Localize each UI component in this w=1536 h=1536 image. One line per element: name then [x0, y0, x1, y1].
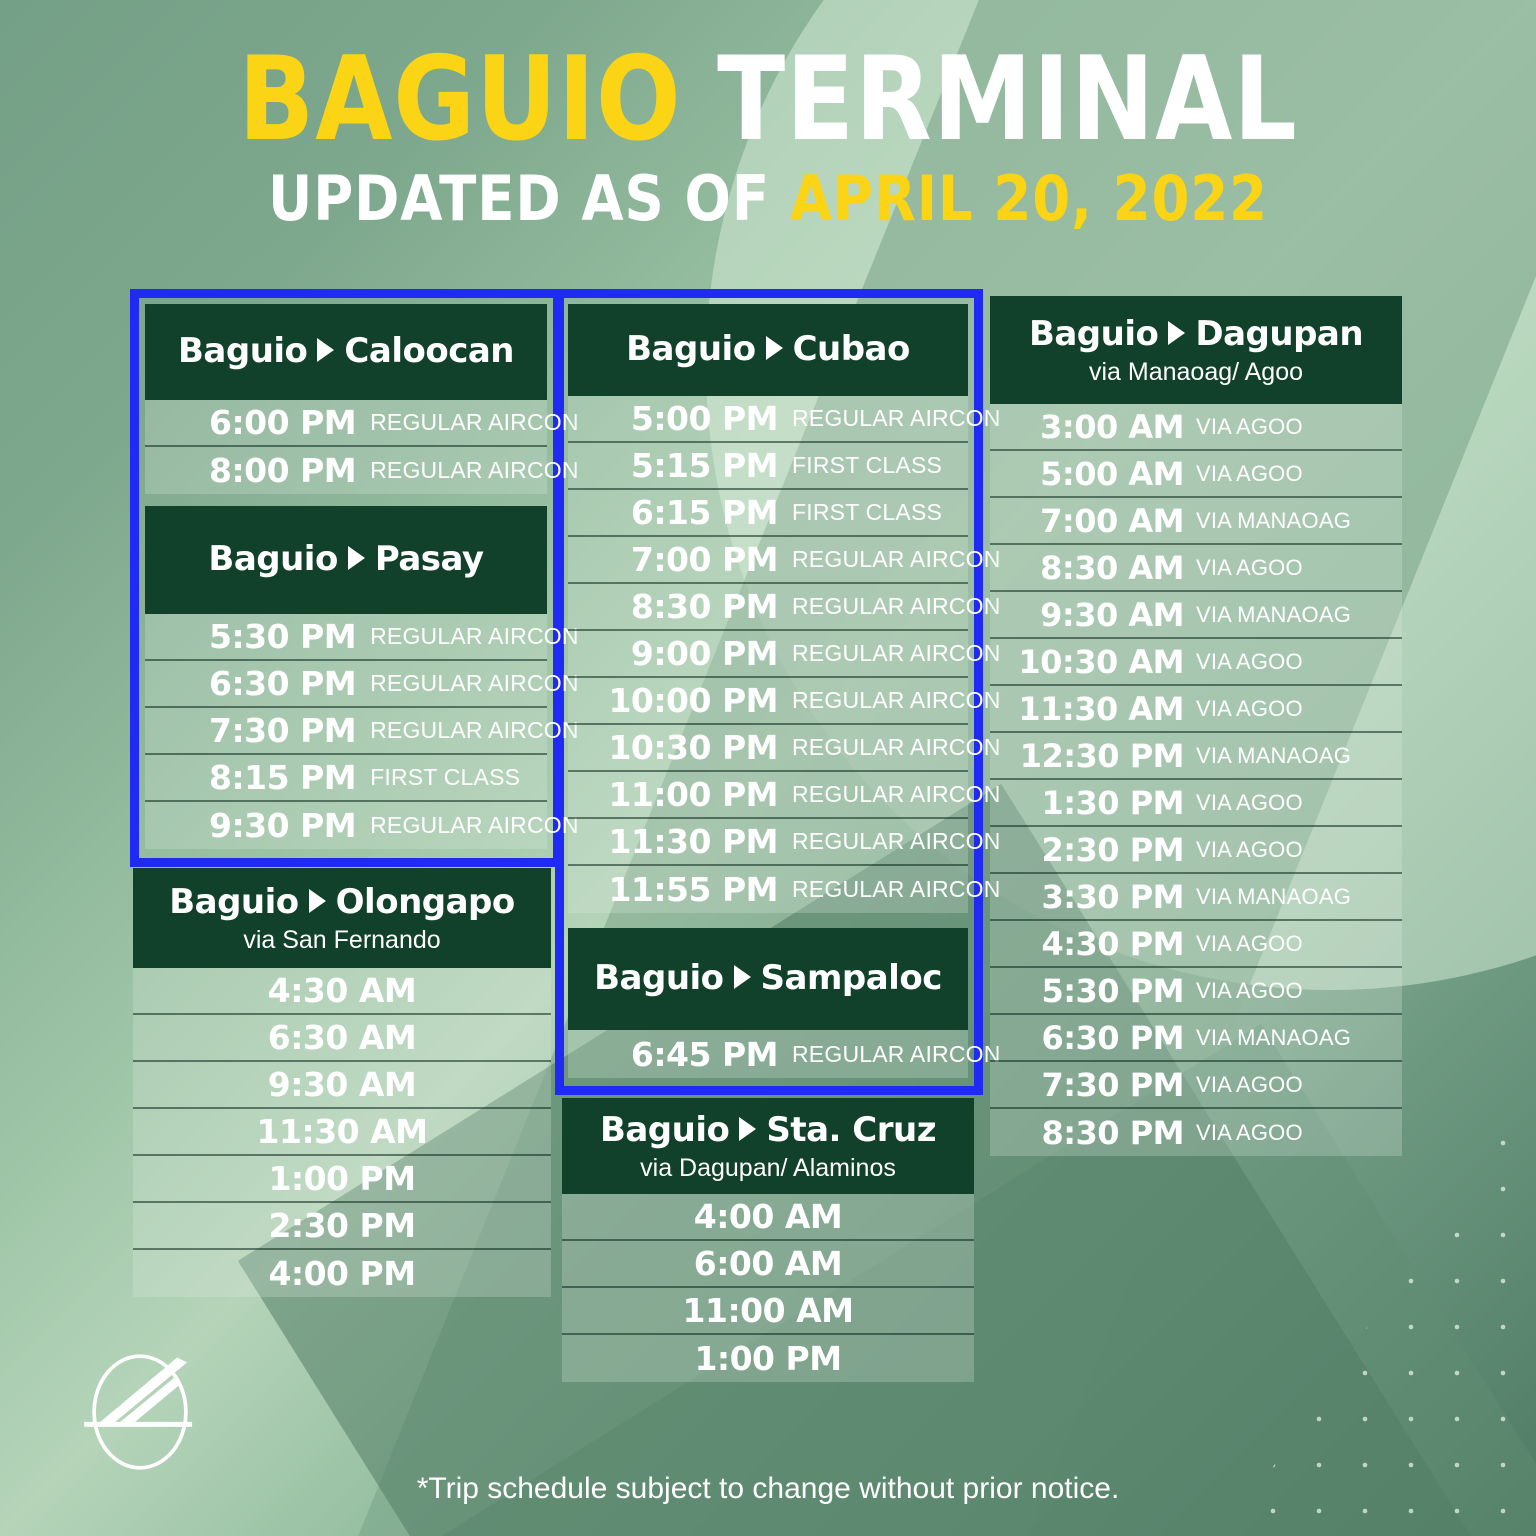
schedule-row[interactable]: 6:45 PMREGULAR AIRCON	[568, 1030, 968, 1078]
route-title-pasay: BaguioPasay	[208, 539, 483, 579]
departure-time: 8:15 PM	[145, 758, 370, 797]
departure-time: 7:30 PM	[990, 1066, 1196, 1104]
departure-time: 1:00 PM	[133, 1159, 551, 1198]
service-class: VIA AGOO	[1196, 555, 1402, 581]
departure-time: 2:30 PM	[133, 1206, 551, 1245]
schedule-row[interactable]: 5:00 AMVIA AGOO	[990, 451, 1402, 498]
route-title-dagupan: BaguioDagupan	[1029, 314, 1363, 354]
victory-liner-logo-icon	[78, 1350, 202, 1474]
schedule-rows-caloocan: 6:00 PMREGULAR AIRCON8:00 PMREGULAR AIRC…	[145, 400, 547, 494]
schedule-row[interactable]: 8:30 AMVIA AGOO	[990, 545, 1402, 592]
schedule-row[interactable]: 11:00 AM	[562, 1288, 974, 1335]
schedule-row[interactable]: 5:15 PMFIRST CLASS	[568, 443, 968, 490]
route-origin: Baguio	[208, 539, 337, 579]
departure-time: 6:15 PM	[568, 493, 792, 532]
service-class: VIA AGOO	[1196, 790, 1402, 816]
schedule-block-caloocan: BaguioCaloocan6:00 PMREGULAR AIRCON8:00 …	[145, 304, 547, 494]
schedule-row[interactable]: 11:30 AM	[133, 1109, 551, 1156]
service-class: FIRST CLASS	[370, 764, 547, 791]
schedule-row[interactable]: 6:30 PMREGULAR AIRCON	[145, 661, 547, 708]
service-class: VIA AGOO	[1196, 1120, 1402, 1146]
departure-time: 8:30 AM	[990, 549, 1196, 587]
departure-time: 4:00 PM	[133, 1254, 551, 1293]
service-class: REGULAR AIRCON	[370, 717, 579, 744]
schedule-row[interactable]: 7:30 PMREGULAR AIRCON	[145, 708, 547, 755]
service-class: FIRST CLASS	[792, 499, 968, 526]
departure-time: 6:00 PM	[145, 403, 370, 442]
route-destination: Sta. Cruz	[766, 1110, 936, 1150]
title-highlight: BAGUIO	[238, 32, 681, 167]
arrow-right-icon	[1168, 321, 1185, 345]
schedule-row[interactable]: 9:00 PMREGULAR AIRCON	[568, 631, 968, 678]
service-class: REGULAR AIRCON	[370, 670, 579, 697]
service-class: VIA MANAOAG	[1196, 884, 1402, 910]
schedule-rows-stacruz: 4:00 AM6:00 AM11:00 AM1:00 PM	[562, 1194, 974, 1382]
departure-time: 10:30 PM	[568, 728, 792, 767]
schedule-block-olongapo: BaguioOlongapovia San Fernando4:30 AM6:3…	[133, 868, 551, 1297]
service-class: VIA AGOO	[1196, 837, 1402, 863]
block-header-dagupan: BaguioDagupanvia Manaoag/ Agoo	[990, 296, 1402, 404]
schedule-row[interactable]: 1:00 PM	[562, 1335, 974, 1382]
route-destination: Pasay	[375, 539, 484, 579]
route-origin: Baguio	[169, 882, 298, 922]
schedule-row[interactable]: 8:30 PMREGULAR AIRCON	[568, 584, 968, 631]
arrow-right-icon	[739, 1117, 756, 1141]
schedule-rows-pasay: 5:30 PMREGULAR AIRCON6:30 PMREGULAR AIRC…	[145, 614, 547, 849]
schedule-row[interactable]: 5:30 PMVIA AGOO	[990, 968, 1402, 1015]
schedule-row[interactable]: 9:30 AMVIA MANAOAG	[990, 592, 1402, 639]
departure-time: 8:30 PM	[568, 587, 792, 626]
service-class: REGULAR AIRCON	[792, 687, 1001, 714]
footer-disclaimer: *Trip schedule subject to change without…	[0, 1472, 1536, 1506]
arrow-right-icon	[317, 338, 334, 362]
departure-time: 8:30 PM	[990, 1114, 1196, 1152]
schedule-rows-sampaloc: 6:45 PMREGULAR AIRCON	[568, 1030, 968, 1078]
route-title-stacruz: BaguioSta. Cruz	[600, 1110, 936, 1150]
route-origin: Baguio	[178, 331, 307, 371]
block-header-cubao: BaguioCubao	[568, 304, 968, 396]
schedule-row[interactable]: 11:55 PMREGULAR AIRCON	[568, 866, 968, 913]
block-header-olongapo: BaguioOlongapovia San Fernando	[133, 868, 551, 968]
route-origin: Baguio	[1029, 314, 1158, 354]
schedule-row[interactable]: 6:00 AM	[562, 1241, 974, 1288]
departure-time: 7:30 PM	[145, 711, 370, 750]
departure-time: 6:30 PM	[990, 1019, 1196, 1057]
route-destination: Cubao	[793, 329, 910, 369]
schedule-row[interactable]: 7:30 PMVIA AGOO	[990, 1062, 1402, 1109]
block-header-sampaloc: BaguioSampaloc	[568, 928, 968, 1030]
service-class: REGULAR AIRCON	[370, 409, 579, 436]
schedule-block-sampaloc: BaguioSampaloc6:45 PMREGULAR AIRCON	[568, 928, 968, 1078]
departure-time: 8:00 PM	[145, 451, 370, 490]
route-destination: Dagupan	[1195, 314, 1363, 354]
schedule-rows-cubao: 5:00 PMREGULAR AIRCON5:15 PMFIRST CLASS6…	[568, 396, 968, 913]
departure-time: 11:00 AM	[562, 1291, 974, 1330]
departure-time: 9:00 PM	[568, 634, 792, 673]
schedule-row[interactable]: 5:00 PMREGULAR AIRCON	[568, 396, 968, 443]
route-title-caloocan: BaguioCaloocan	[178, 331, 514, 371]
schedule-row[interactable]: 9:30 PMREGULAR AIRCON	[145, 802, 547, 849]
departure-time: 11:55 PM	[568, 870, 792, 909]
schedule-block-cubao: BaguioCubao5:00 PMREGULAR AIRCON5:15 PMF…	[568, 304, 968, 913]
arrow-right-icon	[734, 965, 751, 989]
service-class: REGULAR AIRCON	[370, 623, 579, 650]
route-origin: Baguio	[600, 1110, 729, 1150]
route-title-cubao: BaguioCubao	[626, 329, 910, 369]
service-class: VIA AGOO	[1196, 461, 1402, 487]
departure-time: 10:00 PM	[568, 681, 792, 720]
service-class: VIA AGOO	[1196, 1072, 1402, 1098]
departure-time: 1:00 PM	[562, 1339, 974, 1378]
schedule-row[interactable]: 2:30 PM	[133, 1203, 551, 1250]
departure-time: 4:00 AM	[562, 1197, 974, 1236]
route-origin: Baguio	[594, 958, 723, 998]
route-title-sampaloc: BaguioSampaloc	[594, 958, 942, 998]
page-subtitle: UPDATED AS OF APRIL 20, 2022	[92, 166, 1444, 231]
departure-time: 5:00 PM	[568, 399, 792, 438]
route-title-olongapo: BaguioOlongapo	[169, 882, 515, 922]
schedule-row[interactable]: 10:00 PMREGULAR AIRCON	[568, 678, 968, 725]
schedule-row[interactable]: 8:00 PMREGULAR AIRCON	[145, 447, 547, 494]
schedule-rows-olongapo: 4:30 AM6:30 AM9:30 AM11:30 AM1:00 PM2:30…	[133, 968, 551, 1297]
schedule-block-dagupan: BaguioDagupanvia Manaoag/ Agoo3:00 AMVIA…	[990, 296, 1402, 1156]
schedule-row[interactable]: 4:30 PMVIA AGOO	[990, 921, 1402, 968]
service-class: FIRST CLASS	[792, 452, 968, 479]
route-via-stacruz: via Dagupan/ Alaminos	[640, 1154, 896, 1183]
schedule-row[interactable]: 11:30 PMREGULAR AIRCON	[568, 819, 968, 866]
page-header: BAGUIO TERMINAL UPDATED AS OF APRIL 20, …	[0, 42, 1536, 231]
service-class: REGULAR AIRCON	[792, 828, 1001, 855]
schedule-row[interactable]: 11:00 PMREGULAR AIRCON	[568, 772, 968, 819]
service-class: VIA AGOO	[1196, 931, 1402, 957]
subtitle-date: APRIL 20, 2022	[790, 162, 1268, 235]
schedule-row[interactable]: 1:30 PMVIA AGOO	[990, 780, 1402, 827]
departure-time: 4:30 PM	[990, 925, 1196, 963]
service-class: VIA AGOO	[1196, 978, 1402, 1004]
service-class: VIA AGOO	[1196, 414, 1402, 440]
schedule-row[interactable]: 1:00 PM	[133, 1156, 551, 1203]
departure-time: 6:45 PM	[568, 1035, 792, 1074]
schedule-row[interactable]: 4:00 AM	[562, 1194, 974, 1241]
service-class: VIA MANAOAG	[1196, 743, 1402, 769]
departure-time: 12:30 PM	[990, 737, 1196, 775]
service-class: REGULAR AIRCON	[792, 593, 1001, 620]
block-header-caloocan: BaguioCaloocan	[145, 304, 547, 400]
page-title: BAGUIO TERMINAL	[108, 42, 1429, 158]
route-via-olongapo: via San Fernando	[243, 926, 440, 955]
schedule-row[interactable]: 8:15 PMFIRST CLASS	[145, 755, 547, 802]
departure-time: 9:30 AM	[990, 596, 1196, 634]
route-destination: Sampaloc	[761, 958, 942, 998]
schedule-block-pasay: BaguioPasay5:30 PMREGULAR AIRCON6:30 PMR…	[145, 506, 547, 849]
schedule-row[interactable]: 8:30 PMVIA AGOO	[990, 1109, 1402, 1156]
schedule-row[interactable]: 6:15 PMFIRST CLASS	[568, 490, 968, 537]
schedule-row[interactable]: 9:30 AM	[133, 1062, 551, 1109]
route-destination: Caloocan	[344, 331, 514, 371]
departure-time: 4:30 AM	[133, 971, 551, 1010]
departure-time: 11:00 PM	[568, 775, 792, 814]
block-header-pasay: BaguioPasay	[145, 506, 547, 614]
departure-time: 3:00 AM	[990, 408, 1196, 446]
schedule-row[interactable]: 6:30 PMVIA MANAOAG	[990, 1015, 1402, 1062]
title-rest: TERMINAL	[717, 32, 1298, 167]
departure-time: 11:30 AM	[990, 690, 1196, 728]
departure-time: 7:00 PM	[568, 540, 792, 579]
subtitle-prefix: UPDATED AS OF	[268, 162, 770, 235]
service-class: REGULAR AIRCON	[370, 812, 579, 839]
departure-time: 2:30 PM	[990, 831, 1196, 869]
service-class: REGULAR AIRCON	[792, 781, 1001, 808]
schedule-row[interactable]: 11:30 AMVIA AGOO	[990, 686, 1402, 733]
schedule-row[interactable]: 4:30 AM	[133, 968, 551, 1015]
schedule-row[interactable]: 12:30 PMVIA MANAOAG	[990, 733, 1402, 780]
service-class: REGULAR AIRCON	[792, 405, 1001, 432]
route-origin: Baguio	[626, 329, 755, 369]
service-class: VIA MANAOAG	[1196, 1025, 1402, 1051]
service-class: VIA MANAOAG	[1196, 602, 1402, 628]
service-class: REGULAR AIRCON	[370, 457, 579, 484]
arrow-right-icon	[766, 336, 783, 360]
schedule-row[interactable]: 6:00 PMREGULAR AIRCON	[145, 400, 547, 447]
schedule-block-stacruz: BaguioSta. Cruzvia Dagupan/ Alaminos4:00…	[562, 1098, 974, 1382]
departure-time: 9:30 PM	[145, 806, 370, 845]
departure-time: 6:30 PM	[145, 664, 370, 703]
departure-time: 3:30 PM	[990, 878, 1196, 916]
departure-time: 1:30 PM	[990, 784, 1196, 822]
schedule-rows-dagupan: 3:00 AMVIA AGOO5:00 AMVIA AGOO7:00 AMVIA…	[990, 404, 1402, 1156]
service-class: REGULAR AIRCON	[792, 734, 1001, 761]
schedule-row[interactable]: 7:00 PMREGULAR AIRCON	[568, 537, 968, 584]
service-class: VIA AGOO	[1196, 649, 1402, 675]
departure-time: 10:30 AM	[990, 643, 1196, 681]
route-via-dagupan: via Manaoag/ Agoo	[1089, 358, 1303, 387]
service-class: REGULAR AIRCON	[792, 640, 1001, 667]
schedule-row[interactable]: 10:30 AMVIA AGOO	[990, 639, 1402, 686]
service-class: REGULAR AIRCON	[792, 876, 1001, 903]
schedule-row[interactable]: 2:30 PMVIA AGOO	[990, 827, 1402, 874]
service-class: VIA AGOO	[1196, 696, 1402, 722]
block-header-stacruz: BaguioSta. Cruzvia Dagupan/ Alaminos	[562, 1098, 974, 1194]
departure-time: 11:30 AM	[133, 1112, 551, 1151]
departure-time: 6:00 AM	[562, 1244, 974, 1283]
departure-time: 7:00 AM	[990, 502, 1196, 540]
route-destination: Olongapo	[336, 882, 515, 922]
departure-time: 9:30 AM	[133, 1065, 551, 1104]
schedule-row[interactable]: 7:00 AMVIA MANAOAG	[990, 498, 1402, 545]
service-class: REGULAR AIRCON	[792, 546, 1001, 573]
schedule-row[interactable]: 4:00 PM	[133, 1250, 551, 1297]
departure-time: 5:30 PM	[145, 617, 370, 656]
schedule-row[interactable]: 5:30 PMREGULAR AIRCON	[145, 614, 547, 661]
departure-time: 5:00 AM	[990, 455, 1196, 493]
service-class: REGULAR AIRCON	[792, 1041, 1001, 1068]
service-class: VIA MANAOAG	[1196, 508, 1402, 534]
schedule-row[interactable]: 3:00 AMVIA AGOO	[990, 404, 1402, 451]
departure-time: 6:30 AM	[133, 1018, 551, 1057]
arrow-right-icon	[309, 889, 326, 913]
schedule-row[interactable]: 6:30 AM	[133, 1015, 551, 1062]
departure-time: 5:15 PM	[568, 446, 792, 485]
arrow-right-icon	[348, 546, 365, 570]
schedule-row[interactable]: 10:30 PMREGULAR AIRCON	[568, 725, 968, 772]
schedule-row[interactable]: 3:30 PMVIA MANAOAG	[990, 874, 1402, 921]
departure-time: 5:30 PM	[990, 972, 1196, 1010]
departure-time: 11:30 PM	[568, 822, 792, 861]
